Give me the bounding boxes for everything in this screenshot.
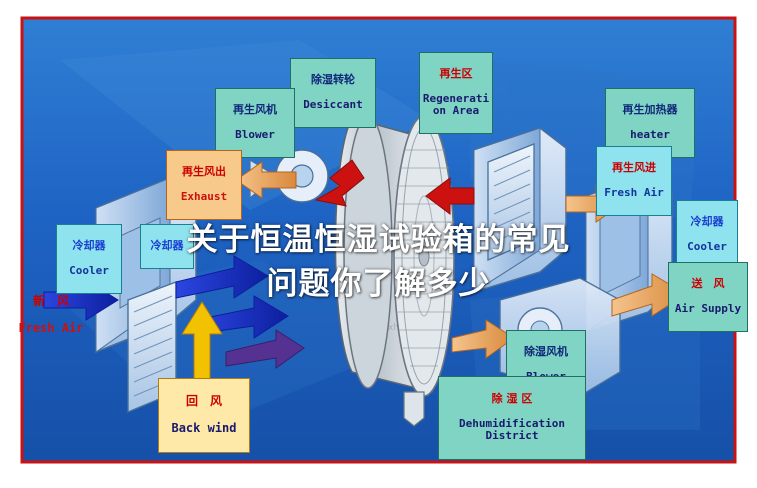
wheel-watermark: xh (388, 323, 399, 333)
label-cooler-mid-cn: 冷却器 (143, 240, 191, 252)
label-dehumidification-district: 除 湿 区 Dehumidification District (438, 376, 586, 460)
label-desiccant-wheel: 除湿转轮 Desiccant (290, 58, 376, 128)
label-exhaust-cn: 再生风出 (169, 166, 239, 178)
label-cooler-mid: 冷却器 (140, 224, 194, 269)
label-regeneration-heater-cn: 再生加热器 (608, 104, 692, 116)
label-dehumidification-district-en: Dehumidification District (441, 418, 583, 443)
label-fresh-air-in-en: Fresh Air (599, 187, 669, 199)
label-fresh-air-left-en: Fresh Air (10, 322, 92, 335)
label-fresh-air-left-cn: 新 风 (10, 295, 92, 308)
label-dehumidify-blower-cn: 除湿风机 (509, 346, 583, 358)
label-cooler-left-en: Cooler (59, 265, 119, 277)
label-exhaust: 再生风出 Exhaust (166, 150, 242, 220)
label-desiccant-wheel-cn: 除湿转轮 (293, 74, 373, 86)
label-regeneration-blower: 再生风机 Blower (215, 88, 295, 158)
label-regeneration-blower-cn: 再生风机 (218, 104, 292, 116)
label-cooler-right-en: Cooler (679, 241, 735, 253)
label-desiccant-wheel-en: Desiccant (293, 99, 373, 111)
label-cooler-right-cn: 冷却器 (679, 216, 735, 228)
label-fresh-air-in: 再生风进 Fresh Air (596, 146, 672, 216)
label-regeneration-blower-en: Blower (218, 129, 292, 141)
label-back-wind-cn: 回 风 (161, 395, 247, 408)
label-air-supply-cn: 送 风 (671, 278, 745, 290)
label-regeneration-area-cn: 再生区 (422, 68, 490, 80)
svg-text:xh: xh (388, 323, 399, 333)
label-regeneration-area-en: Regenerati on Area (422, 93, 490, 118)
label-cooler-left-cn: 冷却器 (59, 240, 119, 252)
label-fresh-air-left: 新 风 Fresh Air (8, 280, 94, 351)
label-back-wind: 回 风 Back wind (158, 378, 250, 453)
label-cooler-right: 冷却器 Cooler (676, 200, 738, 270)
label-back-wind-en: Back wind (161, 422, 247, 435)
label-air-supply-en: Air Supply (671, 303, 745, 315)
label-fresh-air-in-cn: 再生风进 (599, 162, 669, 174)
label-regeneration-area: 再生区 Regenerati on Area (419, 52, 493, 134)
label-air-supply: 送 风 Air Supply (668, 262, 748, 332)
label-regeneration-heater-en: heater (608, 129, 692, 141)
diagram-canvas: xh 除湿转轮 Desiccant 再生区 Regenerati on Area… (0, 0, 757, 488)
label-dehumidification-district-cn: 除 湿 区 (441, 393, 583, 405)
label-exhaust-en: Exhaust (169, 191, 239, 203)
